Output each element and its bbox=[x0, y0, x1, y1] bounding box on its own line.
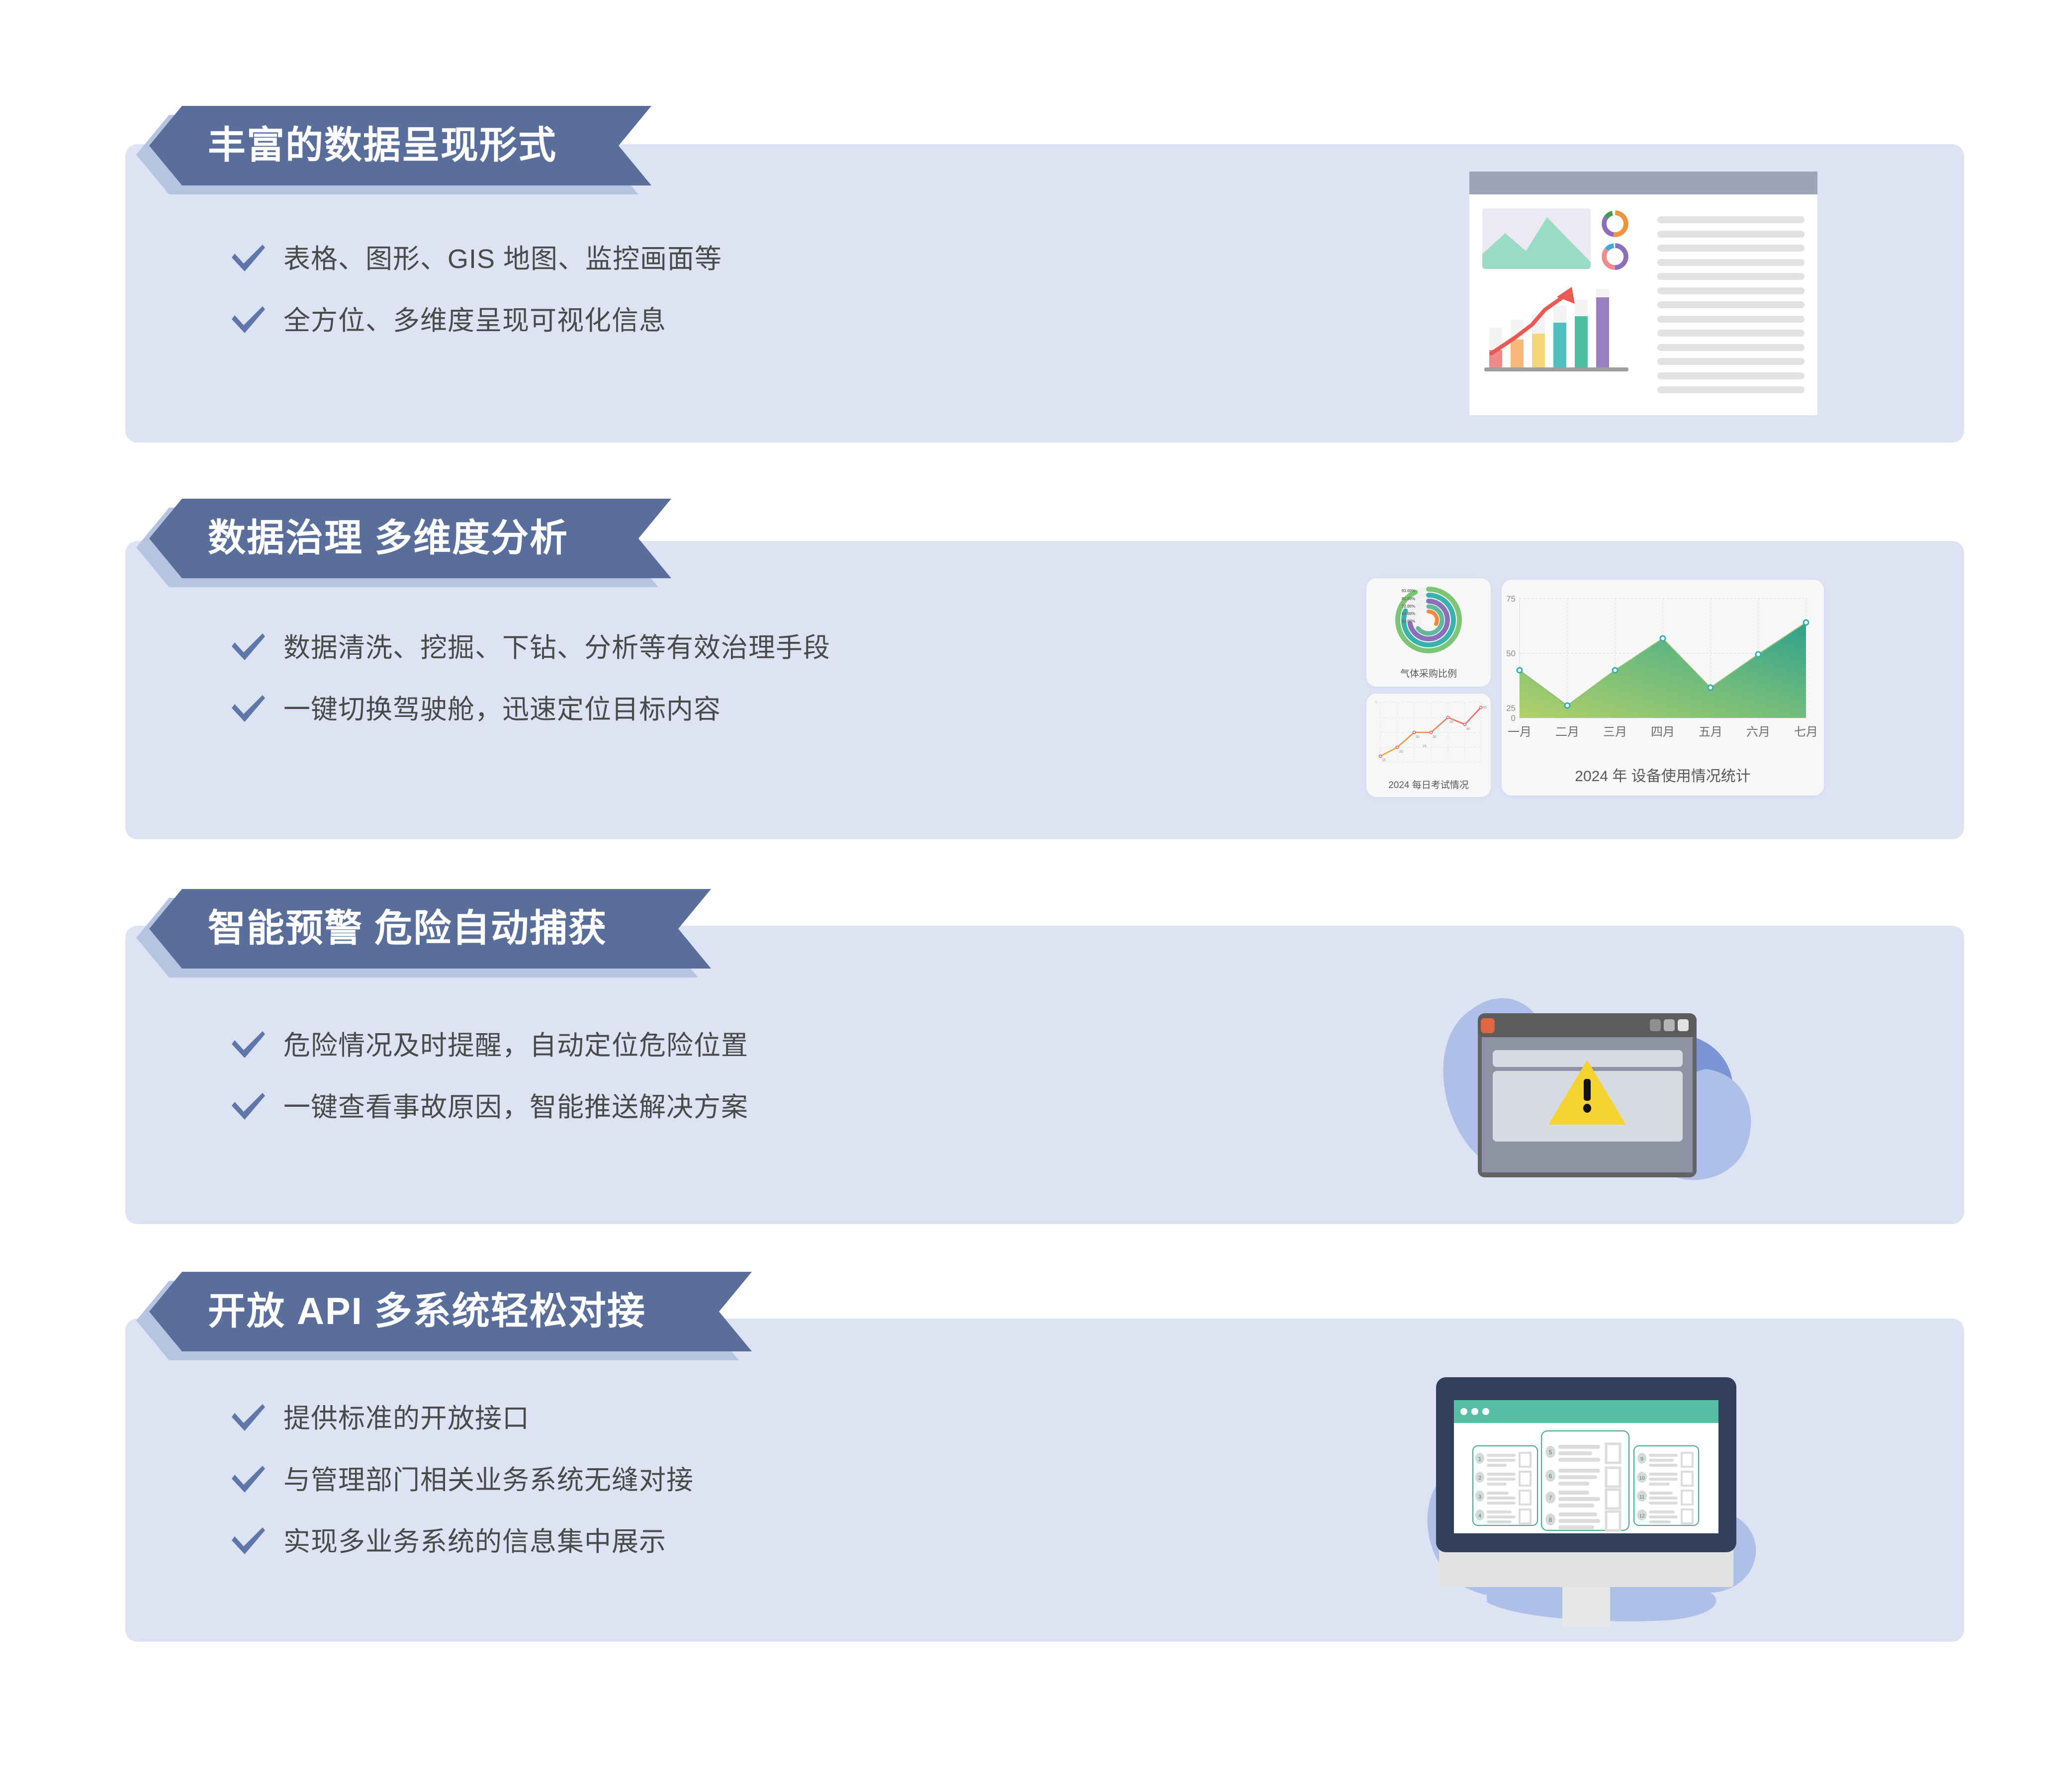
svg-text:20: 20 bbox=[1399, 750, 1403, 754]
feature-list-page: 丰富的数据呈现形式 表格、图形、GIS 地图、监控画面等 全方位、多维度呈现可视… bbox=[0, 0, 2072, 1772]
bullet-text: 全方位、多维度呈现可视化信息 bbox=[283, 305, 666, 336]
check-icon bbox=[230, 1403, 267, 1434]
svg-text:6: 6 bbox=[1549, 1473, 1552, 1480]
list-item: 数据清洗、挖掘、下钻、分析等有效治理手段 bbox=[230, 632, 830, 663]
x-tick-2: 二月 bbox=[1555, 725, 1579, 739]
list-item: 与管理部门相关业务系统无缝对接 bbox=[230, 1465, 694, 1496]
dashboard-panels: 93.00% 81.00% 72.00% 64.00% 33.00% 气体采购比… bbox=[1366, 578, 1824, 797]
report-charts-column bbox=[1482, 208, 1646, 404]
window-dots-icon bbox=[1460, 1408, 1489, 1415]
check-icon bbox=[230, 244, 267, 274]
text-line bbox=[1657, 316, 1804, 323]
donut-chart-2 bbox=[1601, 242, 1629, 271]
text-line bbox=[1657, 301, 1804, 308]
donut-label-1: 93.00% bbox=[1402, 589, 1415, 593]
svg-text:3: 3 bbox=[1478, 1494, 1481, 1500]
bar-chart-with-trend-arrow bbox=[1484, 284, 1633, 373]
report-body bbox=[1469, 194, 1817, 415]
text-line bbox=[1657, 259, 1804, 266]
svg-text:40: 40 bbox=[1466, 727, 1470, 731]
check-icon bbox=[230, 1465, 267, 1496]
svg-text:15: 15 bbox=[1382, 759, 1386, 762]
donut-label-4: 64.00% bbox=[1402, 612, 1415, 616]
feature-banner-1: 丰富的数据呈现形式 bbox=[149, 106, 651, 185]
svg-text:1: 1 bbox=[1478, 1456, 1481, 1462]
area-chart-thumbnail bbox=[1482, 208, 1591, 269]
monitor-chin bbox=[1439, 1547, 1733, 1587]
svg-text:2: 2 bbox=[1478, 1475, 1481, 1481]
list-item: 表格、图形、GIS 地图、监控画面等 bbox=[230, 244, 722, 274]
donut-chart-caption: 气体采购比例 bbox=[1366, 666, 1491, 680]
check-icon bbox=[230, 305, 267, 336]
feature-banner-3: 智能预警 危险自动捕获 bbox=[149, 889, 711, 969]
exclamation-bar bbox=[1584, 1079, 1591, 1101]
list-item: 提供标准的开放接口 bbox=[230, 1403, 694, 1434]
check-icon bbox=[230, 1526, 267, 1557]
banner-chevron: 智能预警 危险自动捕获 bbox=[149, 889, 711, 969]
bullet-list-3: 危险情况及时提醒，自动定位危险位置 一键查看事故原因，智能推送解决方案 bbox=[230, 1030, 748, 1123]
bullet-text: 实现多业务系统的信息集中展示 bbox=[283, 1526, 666, 1557]
donut-label-2: 81.00% bbox=[1402, 597, 1415, 601]
text-line bbox=[1657, 273, 1804, 280]
y-tick-50: 50 bbox=[1506, 649, 1516, 658]
close-button-icon bbox=[1481, 1018, 1495, 1033]
exclamation-dot bbox=[1583, 1104, 1591, 1113]
report-text-lines bbox=[1646, 208, 1804, 404]
banner-chevron: 开放 API 多系统轻松对接 bbox=[149, 1272, 752, 1351]
check-icon bbox=[230, 632, 267, 663]
svg-text:4: 4 bbox=[1478, 1513, 1481, 1519]
line-chart-panel[interactable]: 1520 3030 5040 6025 75 2024 每日考试情况 bbox=[1366, 694, 1491, 797]
area-chart-panel[interactable]: 75 50 25 0 bbox=[1502, 580, 1824, 796]
bullet-list-1: 表格、图形、GIS 地图、监控画面等 全方位、多维度呈现可视化信息 bbox=[230, 244, 722, 336]
list-item: 一键切换驾驶舱，迅速定位目标内容 bbox=[230, 694, 830, 725]
equipment-usage-area: 75 50 25 0 bbox=[1502, 580, 1824, 769]
svg-text:30: 30 bbox=[1433, 735, 1437, 739]
bullet-list-2: 数据清洗、挖掘、下钻、分析等有效治理手段 一键切换驾驶舱，迅速定位目标内容 bbox=[230, 632, 830, 725]
x-tick-6: 六月 bbox=[1746, 725, 1770, 739]
alert-window-illustration bbox=[1412, 979, 1770, 1193]
minimize-button-icon bbox=[1650, 1019, 1661, 1031]
feature-banner-4: 开放 API 多系统轻松对接 bbox=[149, 1272, 752, 1351]
bullet-text: 危险情况及时提醒，自动定位危险位置 bbox=[283, 1030, 748, 1061]
line-chart-caption: 2024 每日考试情况 bbox=[1366, 778, 1491, 791]
bullet-text: 数据清洗、挖掘、下钻、分析等有效治理手段 bbox=[283, 632, 830, 663]
report-page bbox=[1469, 172, 1817, 415]
feature-banner-2: 数据治理 多维度分析 bbox=[149, 499, 671, 578]
x-tick-3: 三月 bbox=[1603, 725, 1627, 739]
y-tick-25: 25 bbox=[1506, 704, 1516, 713]
donut-label-3: 72.00% bbox=[1402, 604, 1415, 609]
svg-text:75: 75 bbox=[1374, 702, 1377, 705]
bullet-text: 提供标准的开放接口 bbox=[283, 1403, 530, 1434]
text-line bbox=[1657, 287, 1804, 294]
text-line bbox=[1657, 216, 1804, 223]
donut-mini-charts bbox=[1601, 209, 1629, 271]
check-icon bbox=[230, 1030, 267, 1061]
svg-text:25: 25 bbox=[1423, 745, 1427, 748]
banner-chevron: 丰富的数据呈现形式 bbox=[149, 106, 651, 185]
text-line bbox=[1657, 330, 1804, 337]
text-line bbox=[1657, 344, 1804, 351]
list-item: 全方位、多维度呈现可视化信息 bbox=[230, 305, 722, 336]
bullet-list-4: 提供标准的开放接口 与管理部门相关业务系统无缝对接 实现多业务系统的信息集中展示 bbox=[230, 1403, 694, 1557]
check-icon bbox=[230, 1092, 267, 1123]
y-tick-0: 0 bbox=[1511, 713, 1516, 723]
svg-text:12: 12 bbox=[1639, 1513, 1645, 1519]
svg-text:50: 50 bbox=[1449, 720, 1453, 724]
gas-purchase-ratio-donut: 93.00% 81.00% 72.00% 64.00% 33.00% bbox=[1366, 578, 1491, 662]
report-dashboard-illustration bbox=[1469, 172, 1817, 415]
check-icon bbox=[230, 694, 267, 725]
desktop-monitor-illustration: 1 2 3 bbox=[1387, 1348, 1785, 1627]
donut-chart-panel[interactable]: 93.00% 81.00% 72.00% 64.00% 33.00% 气体采购比… bbox=[1366, 578, 1491, 687]
svg-text:5: 5 bbox=[1549, 1449, 1552, 1456]
list-item: 一键查看事故原因，智能推送解决方案 bbox=[230, 1092, 748, 1123]
bullet-text: 表格、图形、GIS 地图、监控画面等 bbox=[283, 244, 722, 274]
card-title-3: 智能预警 危险自动捕获 bbox=[208, 910, 607, 948]
bullet-text: 一键查看事故原因，智能推送解决方案 bbox=[283, 1092, 748, 1123]
text-line bbox=[1657, 372, 1804, 379]
bullet-text: 一键切换驾驶舱，迅速定位目标内容 bbox=[283, 694, 721, 725]
x-tick-4: 四月 bbox=[1651, 725, 1675, 739]
restore-button-icon bbox=[1678, 1019, 1689, 1031]
list-item: 实现多业务系统的信息集中展示 bbox=[230, 1526, 694, 1557]
svg-text:10: 10 bbox=[1639, 1476, 1645, 1481]
analytics-dashboard-illustration: 93.00% 81.00% 72.00% 64.00% 33.00% 气体采购比… bbox=[1366, 578, 1824, 797]
svg-text:9: 9 bbox=[1640, 1456, 1643, 1462]
daily-exam-situation-line: 1520 3030 5040 6025 75 bbox=[1366, 694, 1491, 773]
card-title-1: 丰富的数据呈现形式 bbox=[208, 127, 557, 165]
app-titlebar bbox=[1454, 1400, 1718, 1423]
text-line bbox=[1657, 245, 1804, 252]
svg-text:7: 7 bbox=[1549, 1495, 1552, 1502]
banner-chevron: 数据治理 多维度分析 bbox=[149, 499, 671, 578]
text-line bbox=[1657, 358, 1804, 365]
x-tick-5: 五月 bbox=[1699, 725, 1722, 739]
card-title-4: 开放 API 多系统轻松对接 bbox=[208, 1293, 646, 1330]
svg-text:30: 30 bbox=[1416, 735, 1420, 739]
donut-label-5: 33.00% bbox=[1402, 619, 1415, 623]
x-tick-1: 一月 bbox=[1508, 725, 1531, 739]
donut-chart-1 bbox=[1601, 209, 1629, 238]
list-item: 危险情况及时提醒，自动定位危险位置 bbox=[230, 1030, 748, 1061]
svg-text:60: 60 bbox=[1483, 706, 1487, 709]
x-tick-7: 七月 bbox=[1794, 725, 1818, 739]
svg-text:11: 11 bbox=[1639, 1495, 1645, 1500]
text-line bbox=[1657, 231, 1804, 238]
card-title-2: 数据治理 多维度分析 bbox=[208, 520, 568, 557]
maximize-button-icon bbox=[1664, 1019, 1675, 1031]
bullet-text: 与管理部门相关业务系统无缝对接 bbox=[283, 1465, 694, 1496]
area-chart-caption: 2024 年 设备使用情况统计 bbox=[1502, 764, 1824, 786]
report-header-bar bbox=[1469, 172, 1817, 194]
y-tick-75: 75 bbox=[1506, 594, 1516, 604]
text-line bbox=[1657, 386, 1804, 393]
svg-text:8: 8 bbox=[1549, 1516, 1552, 1523]
